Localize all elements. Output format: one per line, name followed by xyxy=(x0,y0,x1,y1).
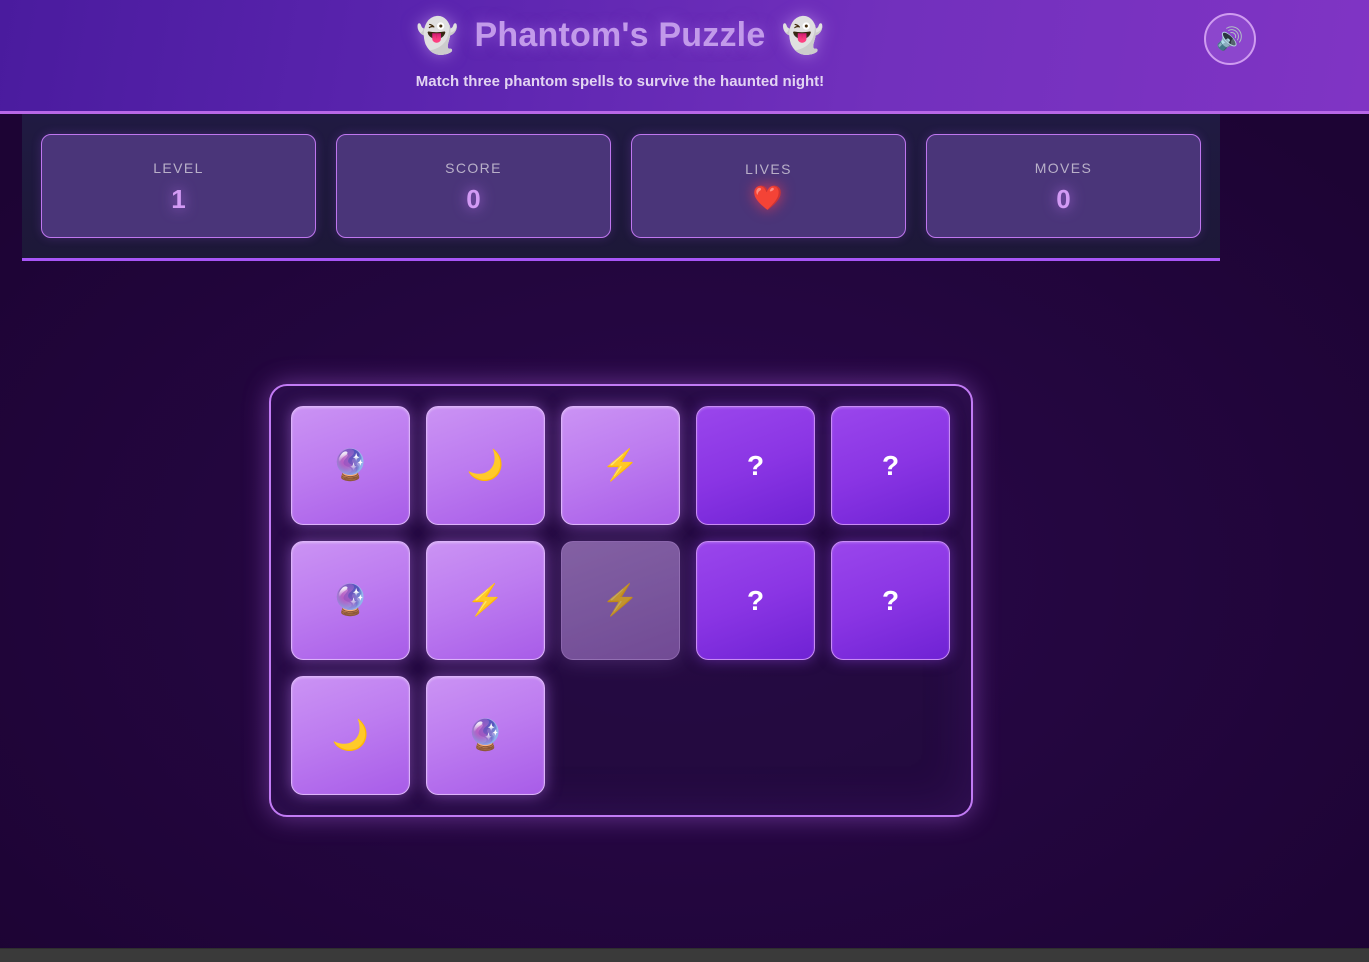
stat-card-moves: MOVES 0 xyxy=(926,134,1201,238)
game-page: 👻 Phantom's Puzzle 👻 Match three phantom… xyxy=(0,0,1369,962)
stat-value-lives: ❤️ xyxy=(753,187,785,211)
title-row: 👻 Phantom's Puzzle 👻 xyxy=(0,16,1240,55)
page-subtitle: Match three phantom spells to survive th… xyxy=(0,73,1240,90)
tile-r3c1[interactable]: 🌙 xyxy=(291,676,410,795)
tile-r2c1[interactable]: 🔮 xyxy=(291,541,410,660)
tile-r1c1[interactable]: 🔮 xyxy=(291,406,410,525)
stat-label-lives: LIVES xyxy=(745,161,792,177)
stats-panel: LEVEL 1 SCORE 0 LIVES ❤️ MOVES 0 xyxy=(22,114,1220,261)
stat-label-level: LEVEL xyxy=(153,160,204,176)
tile-r3c2[interactable]: 🔮 xyxy=(426,676,545,795)
page-title: Phantom's Puzzle xyxy=(475,16,766,55)
tile-r2c2[interactable]: ⚡ xyxy=(426,541,545,660)
tile-r1c4[interactable]: ? xyxy=(696,406,815,525)
tile-r1c3[interactable]: ⚡ xyxy=(561,406,680,525)
tile-r3c5 xyxy=(831,676,950,795)
stat-value-level: 1 xyxy=(171,186,185,212)
stat-card-level: LEVEL 1 xyxy=(41,134,316,238)
tile-r2c5[interactable]: ? xyxy=(831,541,950,660)
tile-r2c4[interactable]: ? xyxy=(696,541,815,660)
tile-grid: 🔮🌙⚡??🔮⚡⚡??🌙🔮 xyxy=(291,406,951,795)
sound-toggle-button[interactable]: 🔊 xyxy=(1204,13,1256,65)
tile-r1c5[interactable]: ? xyxy=(831,406,950,525)
app-header: 👻 Phantom's Puzzle 👻 Match three phantom… xyxy=(0,0,1369,114)
ghost-icon-left: 👻 xyxy=(416,19,458,53)
tile-r3c3 xyxy=(561,676,680,795)
game-board: 🔮🌙⚡??🔮⚡⚡??🌙🔮 xyxy=(269,384,973,817)
stat-label-moves: MOVES xyxy=(1035,160,1093,176)
tile-r3c4 xyxy=(696,676,815,795)
stat-value-score: 0 xyxy=(466,186,480,212)
tile-r1c2[interactable]: 🌙 xyxy=(426,406,545,525)
stat-value-moves: 0 xyxy=(1056,186,1070,212)
stat-label-score: SCORE xyxy=(445,160,502,176)
stat-card-score: SCORE 0 xyxy=(336,134,611,238)
tile-r2c3[interactable]: ⚡ xyxy=(561,541,680,660)
bottom-strip xyxy=(0,948,1369,962)
speaker-icon: 🔊 xyxy=(1216,28,1243,50)
stat-card-lives: LIVES ❤️ xyxy=(631,134,906,238)
ghost-icon-right: 👻 xyxy=(781,19,823,53)
